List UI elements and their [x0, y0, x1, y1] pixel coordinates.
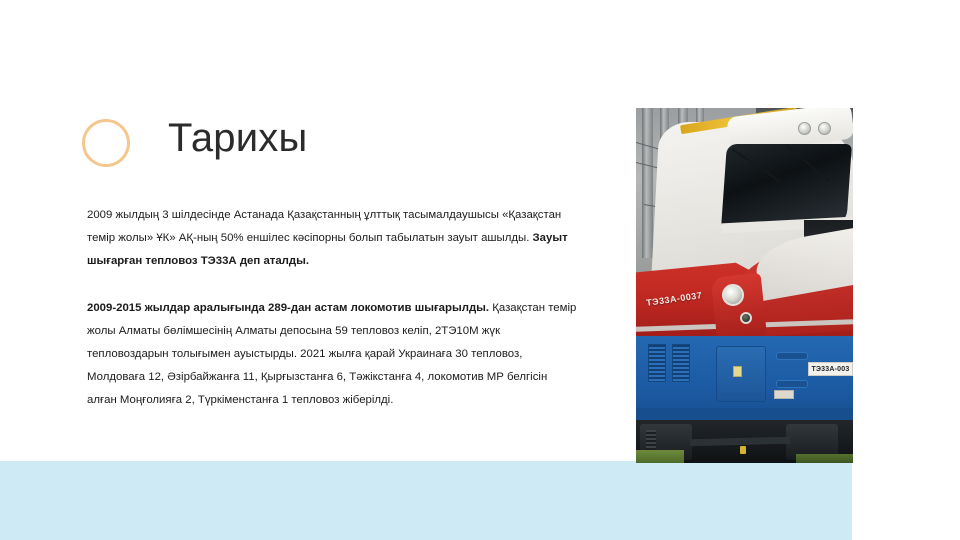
handrail: [776, 380, 808, 388]
body-sticker: [774, 390, 794, 399]
grass-patch: [636, 450, 684, 463]
slide-canvas: Тарихы 2009 жылдың 3 шілдесінде Астанада…: [0, 0, 960, 540]
marker-light-icon: [818, 122, 831, 135]
headlight-plate: [711, 273, 768, 344]
page-title: Тарихы: [168, 112, 307, 164]
radiator-louver: [648, 344, 666, 382]
marker-light-icon: [798, 122, 811, 135]
auxiliary-light-icon: [740, 312, 752, 324]
yellow-marker: [740, 446, 746, 454]
locomotive-photo: ТЭ33А-0037 ТЭ33А-003: [636, 108, 853, 463]
photo-inner: ТЭ33А-0037 ТЭ33А-003: [636, 108, 853, 463]
radiator-louver: [672, 344, 690, 382]
hatch-latch: [733, 366, 742, 377]
title-row: Тарихы: [82, 112, 562, 174]
handrail: [776, 352, 808, 360]
bottom-accent-band: [0, 461, 852, 540]
paragraph-2: 2009-2015 жылдар аралығында 289-дан аста…: [87, 297, 580, 413]
body-copy: 2009 жылдың 3 шілдесінде Астанада Қазақс…: [87, 204, 580, 413]
paragraph-1: 2009 жылдың 3 шілдесінде Астанада Қазақс…: [87, 204, 580, 274]
grass-patch: [796, 454, 853, 463]
locomotive-number-plate: ТЭ33А-003: [808, 362, 853, 376]
depot-pillar: [642, 108, 653, 258]
paragraph-2-text: Қазақстан темір жолы Алматы бөлімшесінің…: [87, 302, 576, 407]
paragraph-2-bold: 2009-2015 жылдар аралығында 289-дан аста…: [87, 302, 489, 314]
paragraph-1-text: 2009 жылдың 3 шілдесінде Астанада Қазақс…: [87, 209, 561, 244]
headlight-icon: [722, 284, 744, 306]
circle-decoration-icon: [80, 117, 133, 170]
